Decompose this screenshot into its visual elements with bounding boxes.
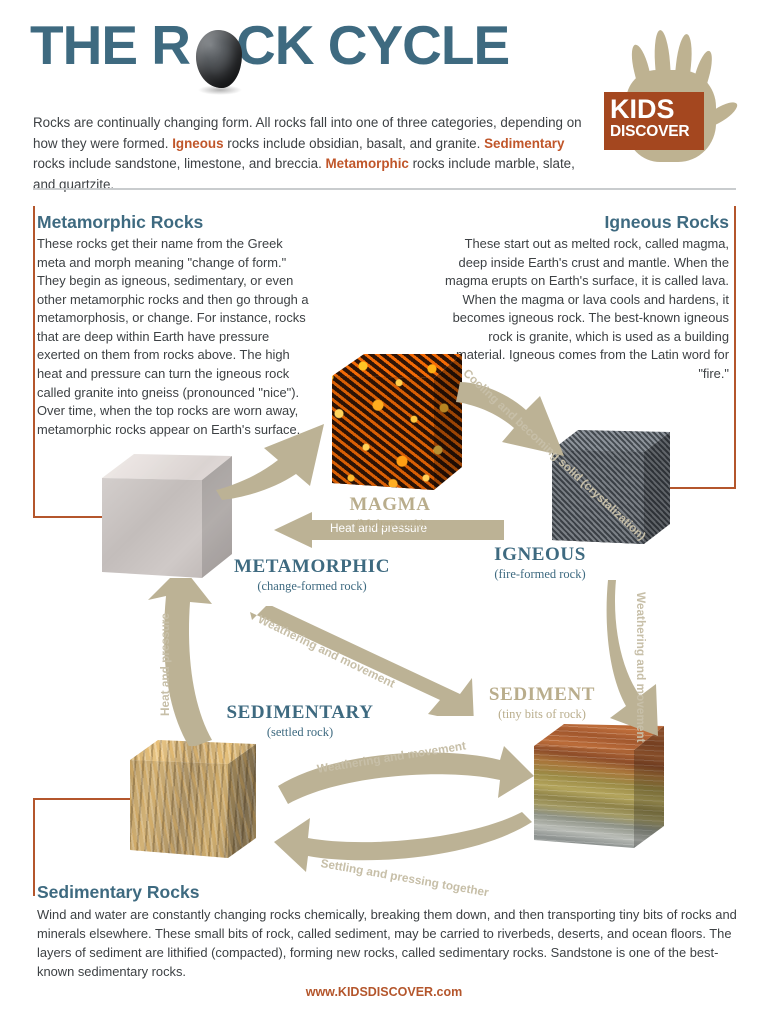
intro-keyword-sedimentary: Sedimentary [484, 136, 564, 151]
intro-keyword-metamorphic: Metamorphic [326, 156, 409, 171]
page-title-part2: CK CYCLE [236, 14, 509, 76]
node-label-metamorphic: METAMORPHIC (change-formed rock) [214, 556, 410, 594]
node-label-sediment-title: SEDIMENT [452, 684, 632, 706]
node-label-magma-title: MAGMA [305, 494, 475, 516]
rock-glyph-icon [196, 30, 242, 88]
node-label-sedimentary: SEDIMENTARY (settled rock) [202, 702, 398, 740]
node-label-igneous-title: IGNEOUS [440, 544, 640, 566]
intro-seg-4: rocks include sandstone, limestone, and … [33, 156, 326, 171]
sandstone-cube-icon [128, 738, 256, 860]
magma-cube-icon [312, 352, 462, 492]
page-title-part1: THE R [30, 14, 190, 76]
arrow-label-igneous-to-sediment: Weathering and movement [634, 592, 648, 743]
header-divider [33, 188, 736, 190]
section-heading-igneous: Igneous Rocks [455, 212, 729, 233]
node-label-sedimentary-sub: (settled rock) [202, 725, 398, 740]
connector-metamorphic-vertical [33, 206, 35, 518]
section-heading-metamorphic: Metamorphic Rocks [37, 212, 203, 233]
logo-wordmark-box: KIDS DISCOVER [604, 92, 704, 150]
footer-url[interactable]: www.KIDSDISCOVER.com [0, 985, 768, 999]
connector-sedimentary-vertical [33, 798, 35, 896]
logo-line-discover: DISCOVER [610, 123, 702, 140]
node-label-metamorphic-sub: (change-formed rock) [214, 579, 410, 594]
arrow-label-sedimentary-to-metamorphic: Heat and pressure [158, 613, 172, 716]
arrow-label-text-1: Weathering and movement [634, 592, 648, 743]
node-label-igneous: IGNEOUS (fire-formed rock) [440, 544, 640, 582]
intro-paragraph: Rocks are continually changing form. All… [33, 113, 593, 195]
connector-igneous-vertical [734, 206, 736, 488]
arrow-label-text-4: Heat and pressure [158, 613, 172, 716]
kids-discover-logo: KIDS DISCOVER [600, 18, 750, 178]
node-label-sedimentary-title: SEDIMENTARY [202, 702, 398, 724]
node-label-sediment-sub: (tiny bits of rock) [452, 707, 632, 722]
section-body-igneous: These start out as melted rock, called m… [440, 235, 729, 384]
node-label-magma-sub: (Molten rock) [305, 517, 475, 532]
page-title: THE RCK CYCLE [30, 18, 509, 73]
intro-seg-2: rocks include obsidian, basalt, and gran… [224, 136, 485, 151]
node-label-igneous-sub: (fire-formed rock) [440, 567, 640, 582]
logo-line-kids: KIDS [610, 95, 702, 124]
section-heading-sedimentary: Sedimentary Rocks [37, 882, 199, 903]
node-label-sediment: SEDIMENT (tiny bits of rock) [452, 684, 632, 722]
intro-keyword-igneous: Igneous [172, 136, 223, 151]
node-label-magma: MAGMA (Molten rock) [305, 494, 475, 532]
section-body-sedimentary: Wind and water are constantly changing r… [37, 905, 737, 981]
arrow-sediment-to-sedimentary [272, 812, 534, 874]
infographic-page: THE RCK CYCLE Rocks are continually chan… [0, 0, 768, 1024]
node-label-metamorphic-title: METAMORPHIC [214, 556, 410, 578]
arrow-metamorphic-to-magma [212, 390, 332, 500]
